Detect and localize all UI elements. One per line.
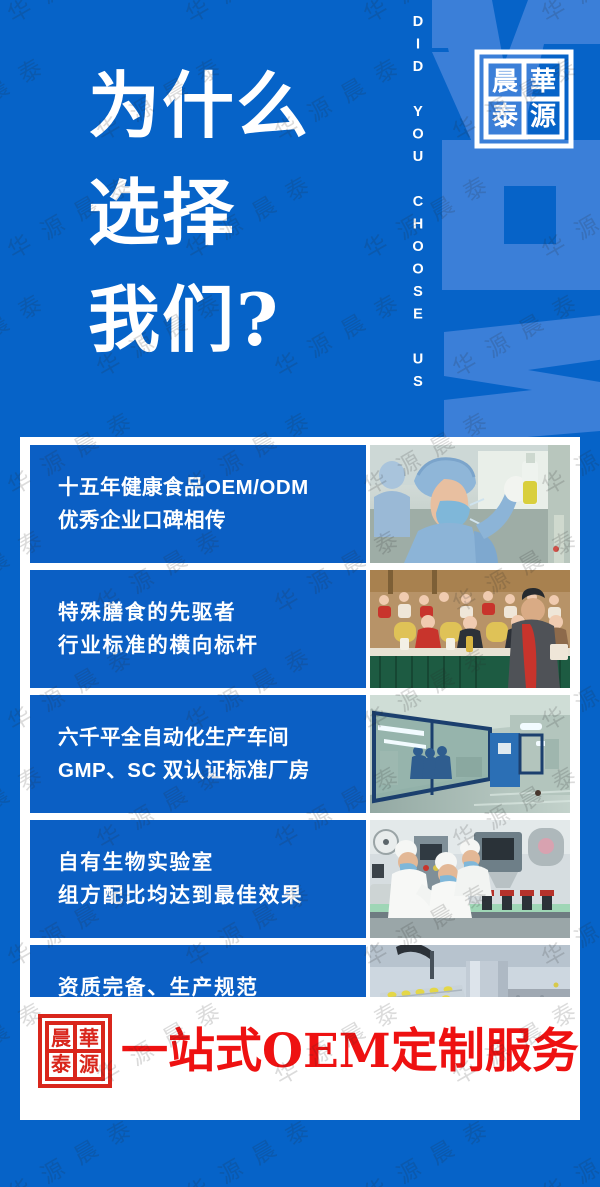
feature-card[interactable]: 十五年健康食品OEM/ODM 优秀企业口碑相传 [30,445,570,563]
feature-card[interactable]: 六千平全自动化生产车间 GMP、SC 双认证标准厂房 [30,695,570,813]
svg-text:晨: 晨 [492,67,519,97]
poster-root: 为什么 选择 我们? DID YOU CHOOSE US 華 源 晨 泰 [0,0,600,1187]
page-title-line-3: 我们? [88,266,388,373]
page-title-line-2: 选择 [88,159,388,266]
feature-line-2: GMP、SC 双认证标准厂房 [58,754,366,787]
svg-text:泰: 泰 [492,102,519,132]
feature-line-1: 十五年健康食品OEM/ODM [58,471,366,504]
banner-slogan: 一站式OEM定制服务 [121,1028,579,1075]
feature-card-text: 十五年健康食品OEM/ODM 优秀企业口碑相传 [30,445,366,563]
feature-card-text: 特殊膳食的先驱者 行业标准的横向标杆 [30,570,366,688]
vertical-subtitle: DID YOU CHOOSE US [398,14,426,424]
watermark-text: 华 源 晨 泰 [0,1109,140,1187]
huayuan-chentai-seal-red-icon: 華 源 晨 泰 [37,1013,113,1089]
feature-card[interactable]: 特殊膳食的先驱者 行业标准的横向标杆 [30,570,570,688]
watermark-text: 华 源 晨 泰 [534,1109,600,1187]
page-title-line-1: 为什么 [88,52,388,159]
lab-technician-photo [370,445,570,563]
feature-card[interactable]: 自有生物实验室 组方配比均达到最佳效果 [30,820,570,938]
hero-section: 为什么 选择 我们? DID YOU CHOOSE US 華 源 晨 泰 [0,0,600,437]
feature-line-2: 优秀企业口碑相传 [58,504,366,537]
svg-text:晨: 晨 [51,1026,72,1050]
feature-line-1: 六千平全自动化生产车间 [58,721,366,754]
content-frame: 十五年健康食品OEM/ODM 优秀企业口碑相传 [20,437,580,1120]
feature-card-list: 十五年健康食品OEM/ODM 优秀企业口碑相传 [30,445,570,1070]
svg-text:泰: 泰 [50,1052,72,1076]
feature-line-1: 自有生物实验室 [58,846,366,879]
page-title: 为什么 选择 我们? [88,52,388,373]
bottom-banner: 華 源 晨 泰 一站式OEM定制服务 [20,997,580,1105]
feature-card-text: 自有生物实验室 组方配比均达到最佳效果 [30,820,366,938]
watermark-text: 华 源 晨 泰 [178,1109,318,1187]
svg-text:華: 華 [530,67,556,97]
watermark-text: 华 源 晨 泰 [356,1109,496,1187]
svg-text:源: 源 [79,1052,99,1076]
feature-line-2: 组方配比均达到最佳效果 [58,879,366,912]
feature-line-1: 特殊膳食的先驱者 [58,596,366,629]
feature-line-2: 行业标准的横向标杆 [58,629,366,662]
svg-text:華: 華 [79,1026,99,1050]
production-line-workers-photo [370,820,570,938]
feature-card-text: 六千平全自动化生产车间 GMP、SC 双认证标准厂房 [30,695,366,813]
huayuan-chentai-seal-icon: 華 源 晨 泰 [472,47,576,151]
cleanroom-corridor-photo [370,695,570,813]
svg-text:源: 源 [530,102,556,132]
conference-audience-photo [370,570,570,688]
